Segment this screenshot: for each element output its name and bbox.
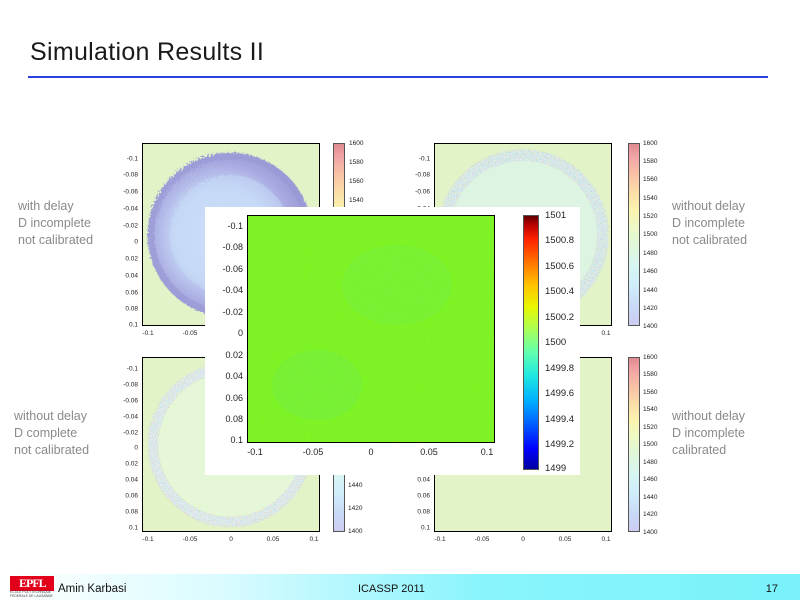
- ytick-label: 0.06: [400, 493, 430, 500]
- colorbar-tick-label: 1400: [643, 529, 657, 536]
- ytick-label: -0.06: [400, 189, 430, 196]
- ytick-label: -0.02: [108, 223, 138, 230]
- colorbar-tick-label: 1500: [545, 337, 566, 348]
- ytick-label: 0.06: [207, 393, 243, 403]
- colorbar-tick-label: 1480: [643, 459, 657, 466]
- colorbar-tick-label: 1440: [643, 494, 657, 501]
- colorbar-tick-label: 1499.2: [545, 439, 574, 450]
- ytick-label: 0.1: [108, 322, 138, 329]
- ytick-label: 0: [108, 445, 138, 452]
- ytick-label: 0.08: [108, 306, 138, 313]
- xtick-label: 0.1: [601, 536, 610, 543]
- colorbar-tick-label: 1600: [643, 354, 657, 361]
- colorbar-tick-label: 1420: [348, 505, 362, 512]
- ytick-label: 0: [207, 328, 243, 338]
- ytick-label: -0.1: [207, 221, 243, 231]
- ytick-label: 0.1: [108, 525, 138, 532]
- ytick-label: -0.1: [108, 156, 138, 163]
- ytick-label: 0.04: [108, 273, 138, 280]
- colorbar-tick-label: 1500.2: [545, 312, 574, 323]
- footer-conference: ICASSP 2011: [358, 583, 425, 595]
- colorbar-tick-label: 1499.6: [545, 388, 574, 399]
- colorbar-tick-label: 1440: [643, 287, 657, 294]
- colorbar-bottom-right: [628, 357, 640, 532]
- axes-center-zoom: [247, 215, 495, 443]
- colorbar-tick-label: 1520: [643, 213, 657, 220]
- xtick-label: 0.1: [309, 536, 318, 543]
- page-title: Simulation Results II: [30, 38, 264, 67]
- xtick-label: 0.05: [267, 536, 280, 543]
- colorbar-tick-label: 1560: [643, 389, 657, 396]
- colorbar-tick-label: 1540: [643, 195, 657, 202]
- ytick-label: -0.06: [207, 264, 243, 274]
- colorbar-tick-label: 1600: [349, 140, 363, 147]
- xtick-label: -0.1: [434, 536, 445, 543]
- xtick-label: -0.05: [303, 447, 324, 457]
- xtick-label: 0.1: [481, 447, 494, 457]
- colorbar-tick-label: 1520: [643, 424, 657, 431]
- ytick-label: 0.04: [108, 477, 138, 484]
- ytick-label: -0.08: [207, 242, 243, 252]
- xtick-label: -0.05: [475, 536, 490, 543]
- colorbar-tick-label: 1400: [643, 323, 657, 330]
- ytick-label: 0: [108, 239, 138, 246]
- colorbar-tick-label: 1501: [545, 210, 566, 221]
- colorbar-tick-label: 1500.4: [545, 286, 574, 297]
- xtick-label: 0.05: [420, 447, 438, 457]
- caption-bottom-right: without delay D incomplete calibrated: [672, 408, 745, 459]
- colorbar-tick-label: 1560: [349, 178, 363, 185]
- xtick-label: -0.1: [142, 536, 153, 543]
- ytick-label: -0.1: [400, 156, 430, 163]
- ytick-label: 0.08: [108, 509, 138, 516]
- caption-top-left: with delay D incomplete not calibrated: [18, 198, 93, 249]
- xtick-label: 0.05: [559, 536, 572, 543]
- title-divider: [28, 76, 768, 78]
- ytick-label: -0.02: [207, 307, 243, 317]
- colorbar-tick-label: 1460: [643, 476, 657, 483]
- xtick-label: 0: [521, 536, 525, 543]
- ytick-label: 0.1: [207, 435, 243, 445]
- colorbar-tick-label: 1500: [643, 441, 657, 448]
- colorbar-tick-label: 1580: [643, 371, 657, 378]
- xtick-label: 0.1: [601, 330, 610, 337]
- colorbar-center-zoom: [523, 215, 539, 470]
- ytick-label: -0.1: [108, 366, 138, 373]
- xtick-label: -0.05: [183, 536, 198, 543]
- colorbar-top-right: [628, 143, 640, 326]
- colorbar-tick-label: 1480: [643, 250, 657, 257]
- colorbar-tick-label: 1560: [643, 176, 657, 183]
- ytick-label: -0.06: [108, 398, 138, 405]
- ytick-label: -0.04: [108, 414, 138, 421]
- footer-author: Amin Karbasi: [58, 583, 126, 595]
- colorbar-tick-label: 1600: [643, 140, 657, 147]
- ytick-label: 0.06: [108, 290, 138, 297]
- logo-subtitle: ECOLE POLYTECHNIQUE FEDERALE DE LAUSANNE: [10, 591, 53, 598]
- colorbar-tick-label: 1460: [643, 268, 657, 275]
- colorbar-tick-label: 1500.8: [545, 235, 574, 246]
- colorbar-tick-label: 1580: [349, 159, 363, 166]
- caption-top-right: without delay D incomplete not calibrate…: [672, 198, 747, 249]
- ytick-label: 0.02: [207, 350, 243, 360]
- xtick-label: 0: [368, 447, 373, 457]
- ytick-label: -0.08: [108, 172, 138, 179]
- colorbar-tick-label: 1499.4: [545, 414, 574, 425]
- ytick-label: 0.02: [108, 461, 138, 468]
- colorbar-tick-label: 1500: [643, 231, 657, 238]
- epfl-logo: EPFL ECOLE POLYTECHNIQUE FEDERALE DE LAU…: [10, 576, 54, 598]
- colorbar-tick-label: 1499.8: [545, 363, 574, 374]
- colorbar-tick-label: 1400: [348, 528, 362, 535]
- ytick-label: -0.08: [400, 172, 430, 179]
- ytick-label: 0.04: [400, 477, 430, 484]
- ytick-label: 0.02: [108, 256, 138, 263]
- xtick-label: 0: [229, 536, 233, 543]
- ytick-label: 0.04: [207, 371, 243, 381]
- ytick-label: -0.04: [207, 285, 243, 295]
- footer-page-number: 17: [766, 583, 778, 595]
- axes-frame: [247, 215, 495, 443]
- ytick-label: -0.04: [108, 206, 138, 213]
- ytick-label: -0.02: [108, 430, 138, 437]
- colorbar-tick-label: 1420: [643, 511, 657, 518]
- ytick-label: 0.1: [400, 525, 430, 532]
- xtick-label: -0.05: [183, 330, 198, 337]
- xtick-label: -0.1: [142, 330, 153, 337]
- colorbar-tick-label: 1440: [348, 482, 362, 489]
- colorbar-tick-label: 1580: [643, 158, 657, 165]
- colorbar-tick-label: 1420: [643, 305, 657, 312]
- ytick-label: -0.06: [108, 189, 138, 196]
- ytick-label: -0.08: [108, 382, 138, 389]
- colorbar-tick-label: 1500.6: [545, 261, 574, 272]
- xtick-label: -0.1: [247, 447, 263, 457]
- colorbar-tick-label: 1540: [643, 406, 657, 413]
- ytick-label: 0.08: [207, 414, 243, 424]
- logo-text: EPFL: [19, 576, 54, 591]
- ytick-label: 0.08: [400, 509, 430, 516]
- colorbar-tick-label: 1540: [349, 197, 363, 204]
- ytick-label: 0.06: [108, 493, 138, 500]
- caption-bottom-left: without delay D complete not calibrated: [14, 408, 89, 459]
- figure-center-zoom: -0.1 -0.08 -0.06 -0.04 -0.02 0 0.02 0.04…: [205, 207, 580, 475]
- colorbar-tick-label: 1499: [545, 463, 566, 474]
